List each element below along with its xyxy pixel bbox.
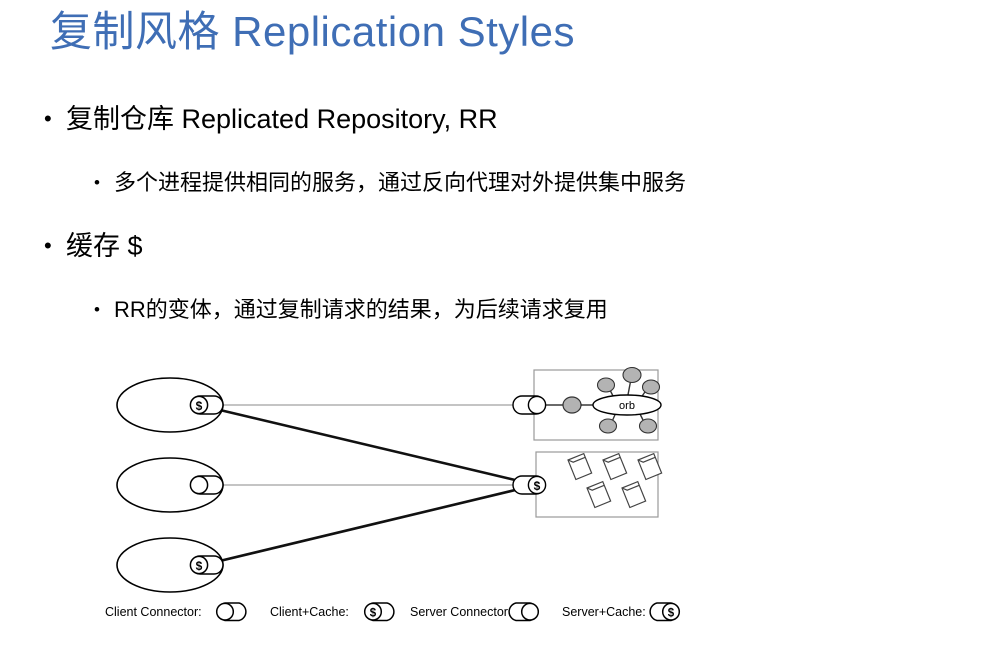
- server-cache-icon: $: [513, 476, 546, 494]
- bullet-marker: •: [94, 166, 114, 199]
- client-connector-icon: [190, 476, 223, 494]
- legend-label-client-cache: Client+Cache:: [270, 605, 349, 619]
- client-cache-icon: $: [365, 603, 394, 621]
- server-cache-box: $: [513, 452, 662, 517]
- dollar-badge: $: [668, 607, 675, 619]
- spacer: [44, 152, 944, 166]
- orb-label: orb: [619, 400, 635, 412]
- bullet-marker: •: [44, 100, 66, 138]
- spacer: [44, 279, 944, 293]
- legend-label-server-connector: Server Connector:: [410, 605, 511, 619]
- bullet-level1-1: • 复制仓库 Replicated Repository, RR: [44, 100, 944, 138]
- bullet-text: RR的变体，通过复制请求的结果，为后续请求复用: [114, 293, 608, 326]
- bullet-level2-1: • 多个进程提供相同的服务，通过反向代理对外提供集中服务: [44, 166, 944, 199]
- slide-canvas: 复制风格 Replication Styles • 复制仓库 Replicate…: [0, 0, 988, 659]
- bullet-list: • 复制仓库 Replicated Repository, RR • 多个进程提…: [44, 100, 944, 340]
- bullet-level2-2: • RR的变体，通过复制请求的结果，为后续请求复用: [44, 293, 944, 326]
- legend-label-client-connector: Client Connector:: [105, 605, 202, 619]
- bullet-level1-2: • 缓存 $: [44, 227, 944, 265]
- server-orb-box: orb: [513, 368, 661, 441]
- bullet-marker: •: [94, 293, 114, 326]
- server-connector-icon: [509, 603, 538, 621]
- bullet-text: 缓存 $: [66, 227, 143, 265]
- dollar-badge: $: [370, 607, 377, 619]
- dollar-badge: $: [196, 559, 203, 573]
- client-cache-icon: $: [190, 396, 223, 414]
- spacer: [44, 213, 944, 227]
- client-connector-icon: [217, 603, 246, 621]
- bullet-text: 多个进程提供相同的服务，通过反向代理对外提供集中服务: [114, 166, 686, 199]
- dollar-badge: $: [534, 479, 541, 493]
- server-connector-icon: [513, 396, 546, 414]
- client-1: $: [117, 378, 223, 432]
- client-2: [117, 458, 223, 512]
- diagram-legend: Client Connector: Client+Cache: $ Server…: [105, 598, 725, 632]
- client-cache-icon: $: [190, 556, 223, 574]
- legend-label-server-cache: Server+Cache:: [562, 605, 646, 619]
- page-title: 复制风格 Replication Styles: [50, 5, 575, 59]
- server-cache-icon: $: [650, 603, 679, 621]
- client-3: $: [117, 538, 223, 592]
- dollar-badge: $: [196, 399, 203, 413]
- bullet-marker: •: [44, 227, 66, 265]
- bullet-text: 复制仓库 Replicated Repository, RR: [66, 100, 498, 138]
